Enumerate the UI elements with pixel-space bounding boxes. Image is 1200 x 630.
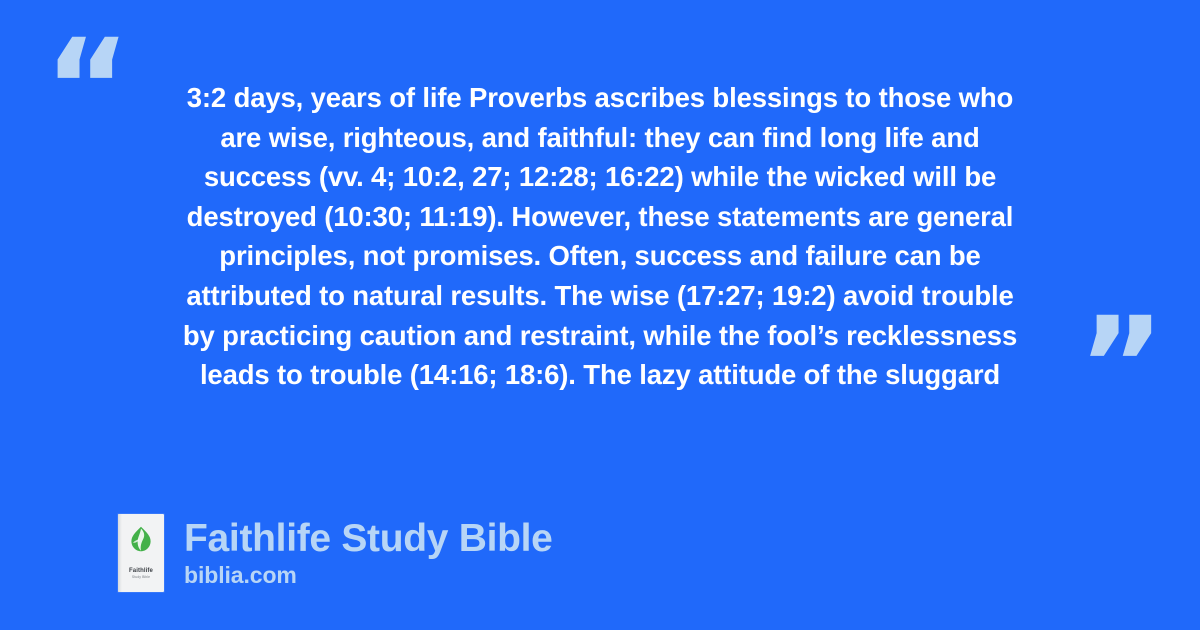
quote-card: “ 3:2 days, years of life Proverbs ascri…	[0, 0, 1200, 630]
book-cover-thumbnail: Faithlife Study Bible	[118, 514, 164, 592]
brand-name: Faithlife Study Bible	[184, 517, 553, 561]
cover-subtitle: Study Bible	[132, 576, 150, 579]
cover-title: Faithlife	[129, 568, 153, 574]
quote-text: 3:2 days, years of life Proverbs ascribe…	[100, 78, 1100, 395]
brand-text-group: Faithlife Study Bible biblia.com	[184, 517, 553, 589]
faithlife-leaf-logo-icon	[130, 526, 152, 552]
quote-block: 3:2 days, years of life Proverbs ascribe…	[100, 78, 1100, 395]
brand-url[interactable]: biblia.com	[184, 562, 553, 589]
footer-branding: Faithlife Study Bible Faithlife Study Bi…	[118, 514, 553, 592]
